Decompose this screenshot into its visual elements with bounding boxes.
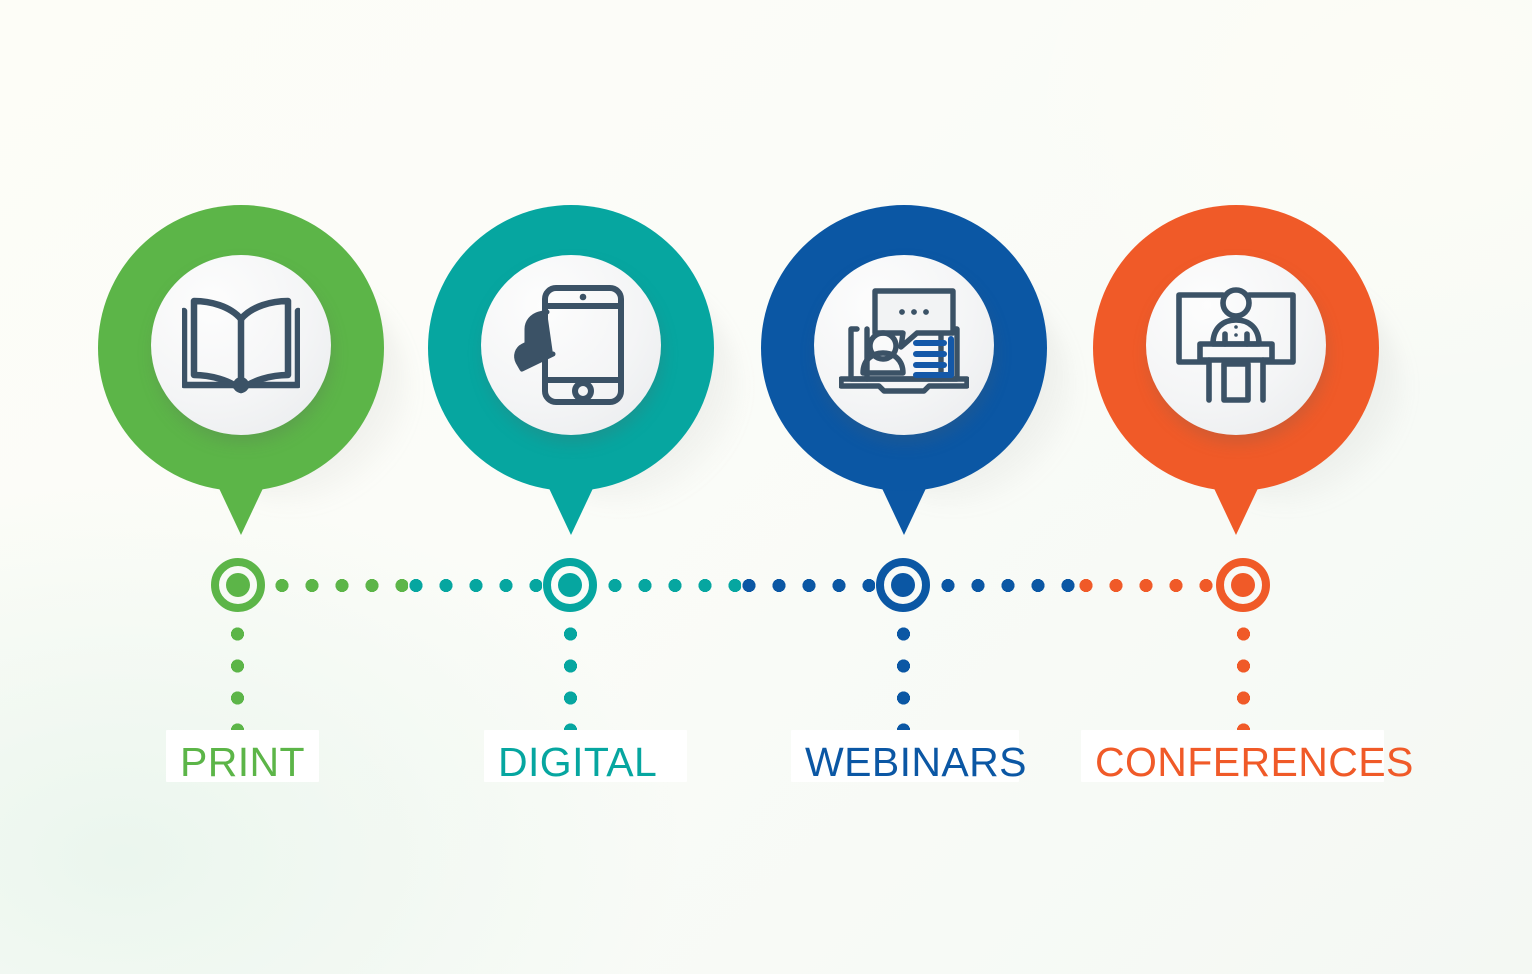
laptop-webinar-icon [839,285,969,405]
timeline-marker-digital[interactable] [543,558,597,612]
timeline-marker-conferences[interactable] [1216,558,1270,612]
dotted-connector-print-to-digital [274,579,408,592]
step-label-digital: DIGITAL [498,742,657,783]
pin-icon-disc [1146,255,1326,435]
dotted-dropline-webinars [897,625,910,737]
open-book-icon [182,293,300,397]
step-label-webinars: WEBINARS [805,742,1027,783]
speaker-podium-icon [1173,286,1299,404]
pin-print[interactable] [98,205,384,545]
pin-conferences[interactable] [1093,205,1379,545]
pin-icon-disc [481,255,661,435]
pin-icon-disc [814,255,994,435]
dotted-connector-digital-to-webinars [741,579,875,592]
pin-digital[interactable] [428,205,714,545]
infographic-canvas: PRINTDIGITALWEBINARSCONFERENCES [0,0,1532,974]
dotted-connector-digital-to-webinars [607,579,741,592]
step-label-print: PRINT [180,742,305,783]
tablet-in-hand-icon [513,284,629,406]
dotted-connector-print-to-digital [408,579,542,592]
step-label-conferences: CONFERENCES [1095,742,1414,783]
timeline-marker-webinars[interactable] [876,558,930,612]
dotted-dropline-print [231,625,244,737]
pin-webinars[interactable] [761,205,1047,545]
dotted-connector-webinars-to-conferences [940,579,1078,592]
timeline-marker-print[interactable] [211,558,265,612]
pin-icon-disc [151,255,331,435]
dotted-connector-webinars-to-conferences [1078,579,1216,592]
dotted-dropline-digital [564,625,577,737]
dotted-dropline-conferences [1237,625,1250,737]
